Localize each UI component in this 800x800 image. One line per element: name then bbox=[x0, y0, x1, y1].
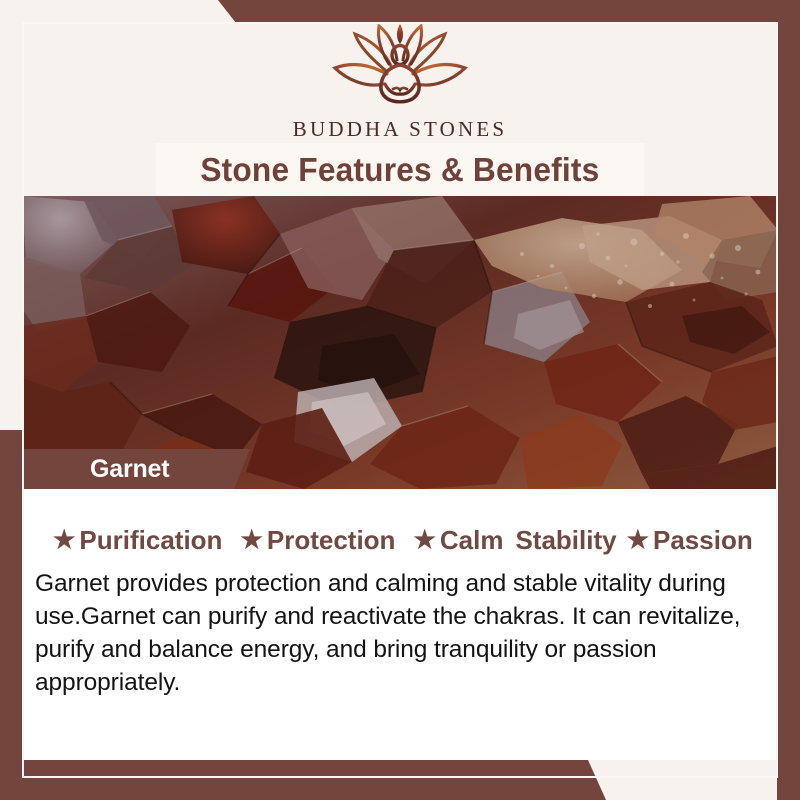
stone-description: Garnet provides protection and calming a… bbox=[35, 567, 759, 699]
feature-label: Passion bbox=[653, 525, 753, 556]
brand-name: BUDDHA STONES bbox=[0, 117, 800, 142]
feature-item-calm: ★ Calm bbox=[413, 525, 503, 556]
feature-list: ★ Purification ★ Protection ★ Calm Stabi… bbox=[53, 525, 753, 556]
right-border-bar bbox=[777, 0, 800, 800]
star-icon: ★ bbox=[53, 528, 75, 553]
stone-photo bbox=[22, 196, 778, 489]
feature-label: Protection bbox=[267, 525, 396, 556]
stone-info-poster: BUDDHA STONES Stone Features & Benefits bbox=[0, 0, 800, 800]
star-icon: ★ bbox=[413, 528, 435, 553]
feature-item-stability: Stability bbox=[515, 525, 616, 556]
brand-logo: BUDDHA STONES bbox=[0, 22, 800, 142]
page-title: Stone Features & Benefits bbox=[200, 151, 599, 189]
garnet-crystal-cluster-image bbox=[22, 196, 778, 489]
feature-label: Purification bbox=[79, 525, 222, 556]
feature-item-passion: ★ Passion bbox=[627, 525, 753, 556]
lotus-meditation-icon bbox=[325, 22, 475, 114]
bottom-border-bar bbox=[0, 760, 800, 800]
stone-name: Garnet bbox=[90, 455, 169, 484]
feature-label: Stability bbox=[515, 525, 616, 556]
feature-label: Calm bbox=[440, 525, 504, 556]
feature-item-purification: ★ Purification bbox=[53, 525, 222, 556]
left-border-bar bbox=[0, 430, 23, 800]
feature-item-protection: ★ Protection bbox=[240, 525, 395, 556]
star-icon: ★ bbox=[627, 528, 649, 553]
content-card: ★ Purification ★ Protection ★ Calm Stabi… bbox=[23, 489, 778, 760]
star-icon: ★ bbox=[240, 528, 262, 553]
title-banner: Stone Features & Benefits bbox=[156, 143, 644, 196]
stone-name-banner: Garnet bbox=[22, 449, 250, 489]
